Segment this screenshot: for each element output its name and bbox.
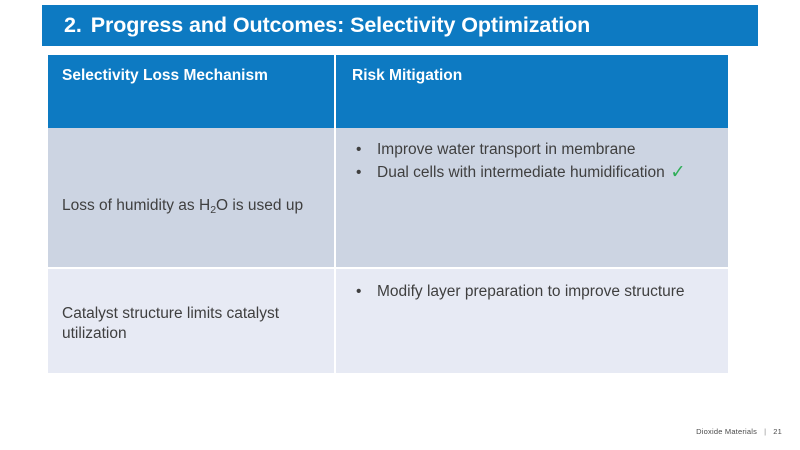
- mechanism-text-1-subscript: 2: [210, 204, 216, 216]
- slide-title-text: Progress and Outcomes: Selectivity Optim…: [91, 13, 590, 37]
- bullet-icon: •: [356, 281, 361, 303]
- mitigation-text: Dual cells with intermediate humidificat…: [377, 164, 665, 181]
- footer-separator: |: [764, 427, 766, 436]
- list-item: • Modify layer preparation to improve st…: [352, 281, 722, 303]
- mechanism-text-1: Loss of humidity as H2O is used up: [48, 196, 334, 216]
- cell-mechanism-1: Loss of humidity as H2O is used up: [48, 128, 334, 267]
- mechanism-text-1-post: O is used up: [216, 197, 303, 214]
- slide-title-number: 2.: [64, 13, 82, 37]
- mitigation-list-2: • Modify layer preparation to improve st…: [336, 281, 722, 304]
- slide-title-banner: 2.Progress and Outcomes: Selectivity Opt…: [42, 5, 758, 46]
- cell-mitigation-2: • Modify layer preparation to improve st…: [334, 267, 728, 373]
- column-header-mitigation: Risk Mitigation: [352, 67, 728, 84]
- mitigation-list-1: • Improve water transport in membrane • …: [336, 139, 722, 185]
- content-table: Selectivity Loss Mechanism Risk Mitigati…: [48, 55, 728, 373]
- cell-mitigation-1: • Improve water transport in membrane • …: [334, 128, 728, 267]
- mitigation-text: Modify layer preparation to improve stru…: [377, 283, 685, 300]
- mechanism-text-1-pre: Loss of humidity as H: [62, 197, 210, 214]
- table-header-cell-mechanism: Selectivity Loss Mechanism: [48, 55, 334, 128]
- cell-mechanism-2: Catalyst structure limits catalyst utili…: [48, 267, 334, 373]
- footer-page-number: 21: [773, 427, 782, 436]
- mechanism-text-2: Catalyst structure limits catalyst utili…: [48, 304, 334, 345]
- slide-footer: Dioxide Materials | 21: [696, 427, 782, 436]
- list-item: • Improve water transport in membrane: [352, 139, 722, 161]
- column-header-mechanism: Selectivity Loss Mechanism: [62, 67, 334, 84]
- table-row: Loss of humidity as H2O is used up • Imp…: [48, 128, 728, 267]
- table-header-row: Selectivity Loss Mechanism Risk Mitigati…: [48, 55, 728, 128]
- footer-company: Dioxide Materials: [696, 427, 757, 436]
- list-item: • Dual cells with intermediate humidific…: [352, 162, 722, 184]
- table-header-cell-mitigation: Risk Mitigation: [334, 55, 728, 128]
- table-row: Catalyst structure limits catalyst utili…: [48, 267, 728, 373]
- check-icon: ✓: [670, 163, 685, 182]
- bullet-icon: •: [356, 139, 361, 161]
- page-title: 2.Progress and Outcomes: Selectivity Opt…: [64, 15, 590, 37]
- mitigation-text: Improve water transport in membrane: [377, 141, 635, 158]
- bullet-icon: •: [356, 162, 361, 184]
